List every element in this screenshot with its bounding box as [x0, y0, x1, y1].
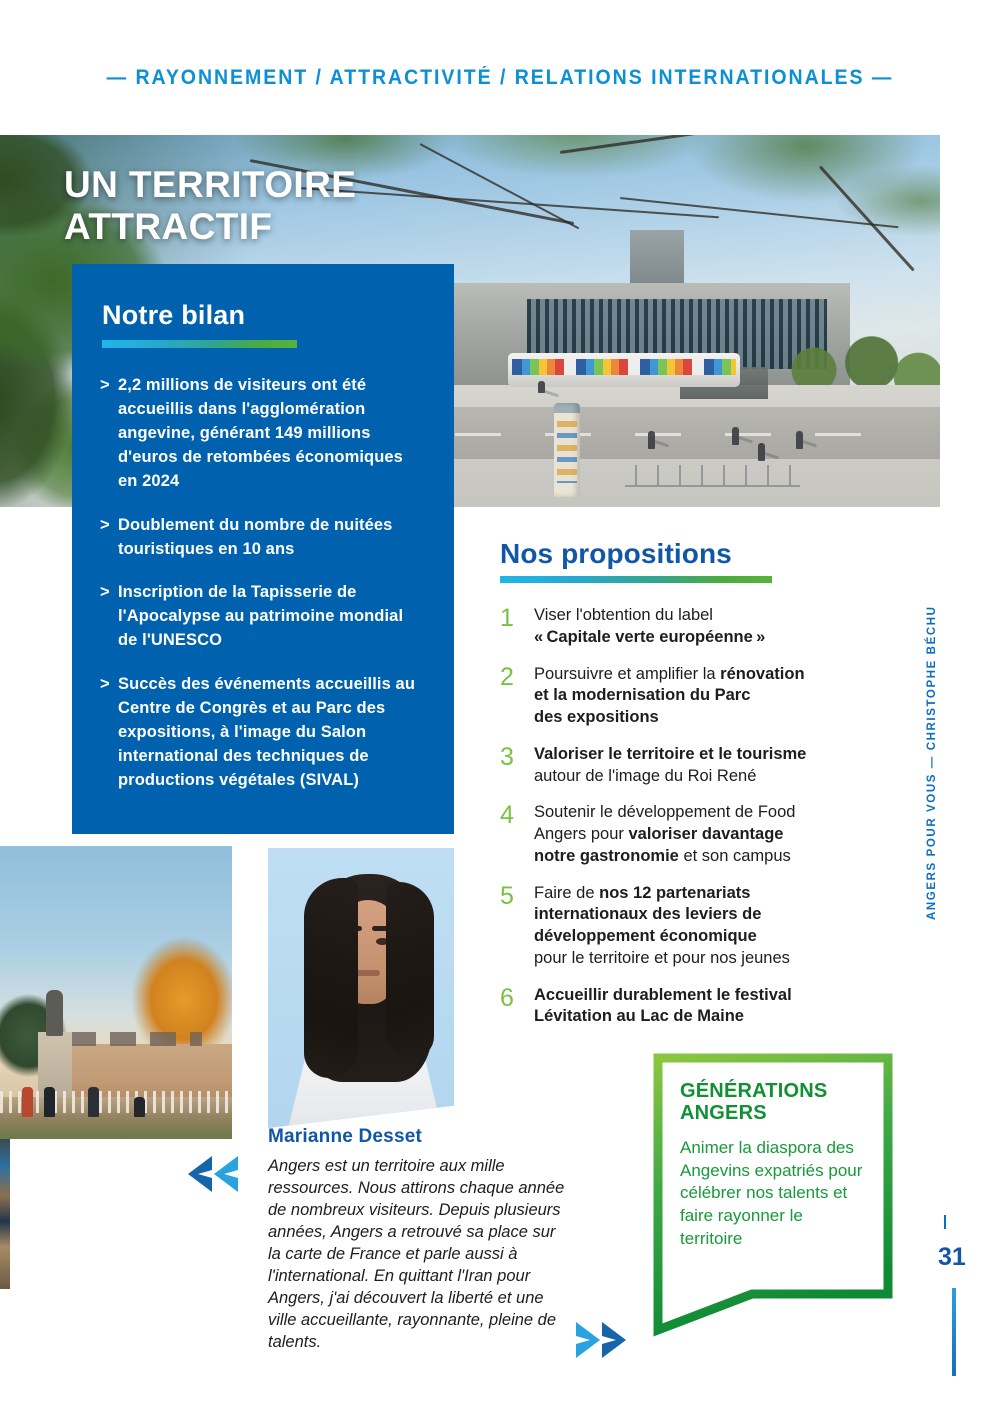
testimonial-quote: Angers est un territoire aux mille resso… — [268, 1156, 568, 1353]
bilan-item-text: Succès des événements accueillis au Cent… — [118, 675, 415, 789]
green-callout-title-line1: GÉNÉRATIONS — [680, 1080, 827, 1102]
proposition-number: 2 — [500, 664, 534, 729]
proposition-number: 6 — [500, 985, 534, 1029]
hero-pedestrian — [796, 431, 803, 449]
hero-bike-rack — [625, 465, 800, 487]
chevron-marker-icon: > — [100, 514, 110, 538]
chevron-marker-icon: > — [100, 673, 110, 697]
proposition-number: 5 — [500, 883, 534, 970]
hero-road — [415, 407, 940, 459]
bilan-list: > 2,2 millions de visiteurs ont été accu… — [100, 374, 424, 793]
proposition-text: Faire de nos 12 partenariatsinternationa… — [534, 883, 790, 970]
page-title-line2: ATTRACTIF — [64, 206, 356, 248]
hero-pedestrian — [732, 427, 739, 445]
bilan-item-text: 2,2 millions de visiteurs ont été accuei… — [118, 376, 403, 490]
bilan-item: > Doublement du nombre de nuitées touris… — [100, 514, 424, 562]
photo-visitor — [88, 1087, 99, 1117]
proposition-row: 5Faire de nos 12 partenariatsinternation… — [500, 883, 900, 970]
page-number: 31 — [938, 1243, 966, 1272]
margin-vertical-rule — [952, 1288, 956, 1376]
propositions-heading: Nos propositions — [500, 538, 900, 570]
green-callout-content: GÉNÉRATIONS ANGERS Animer la diaspora de… — [680, 1080, 868, 1251]
proposition-row: 1Viser l'obtention du label« Capitale ve… — [500, 605, 900, 649]
hero-pedestrian — [538, 381, 545, 393]
section-header: — RAYONNEMENT / ATTRACTIVITÉ / RELATIONS… — [35, 66, 965, 90]
page-root: — RAYONNEMENT / ATTRACTIVITÉ / RELATIONS… — [0, 0, 1000, 1419]
photo-fence — [0, 1091, 232, 1113]
hero-pedestrian — [758, 443, 765, 461]
photo-visitor — [134, 1097, 145, 1117]
proposition-text: Soutenir le développement de FoodAngers … — [534, 802, 795, 867]
photo-edge-sliver — [0, 1139, 10, 1289]
quote-close-chevrons-icon — [572, 1320, 628, 1360]
green-callout-body: Animer la diaspora des Angevins expatrié… — [680, 1137, 868, 1251]
green-callout-title-line2: ANGERS — [680, 1102, 767, 1124]
bilan-item: > 2,2 millions de visiteurs ont été accu… — [100, 374, 424, 494]
propositions-gradient-rule — [500, 576, 772, 583]
bilan-item-text: Doublement du nombre de nuitées touristi… — [118, 516, 392, 558]
proposition-text: Valoriser le territoire et le tourismeau… — [534, 744, 806, 788]
testimonial-name: Marianne Desset — [268, 1126, 422, 1148]
proposition-number: 4 — [500, 802, 534, 867]
photo-visitor — [22, 1087, 33, 1117]
photo-statue-figure — [46, 990, 63, 1036]
bilan-heading: Notre bilan — [102, 300, 424, 331]
proposition-row: 3Valoriser le territoire et le tourismea… — [500, 744, 900, 788]
bilan-item: > Succès des événements accueillis au Ce… — [100, 673, 424, 793]
green-callout-box: GÉNÉRATIONS ANGERS Animer la diaspora de… — [652, 1052, 894, 1354]
margin-dash — [944, 1215, 946, 1229]
proposition-number: 3 — [500, 744, 534, 788]
photo-place-statue — [0, 846, 232, 1139]
proposition-text: Poursuivre et amplifier la rénovationet … — [534, 664, 805, 729]
page-title: UN TERRITOIRE ATTRACTIF — [64, 164, 356, 248]
proposition-row: 2Poursuivre et amplifier la rénovationet… — [500, 664, 900, 729]
hero-advertising-column — [554, 403, 580, 497]
hero-pedestrian — [648, 431, 655, 449]
proposition-row: 6Accueillir durablement le festivalLévit… — [500, 985, 900, 1029]
bilan-panel: Notre bilan > 2,2 millions de visiteurs … — [72, 264, 454, 834]
quote-open-chevrons-icon — [186, 1154, 242, 1194]
bilan-gradient-rule — [102, 340, 297, 348]
portrait-hair-left — [304, 878, 358, 1078]
proposition-text: Accueillir durablement le festivalLévita… — [534, 985, 792, 1029]
running-header-text: ANGERS POUR VOUS — CHRISTOPHE BÉCHU — [926, 605, 938, 920]
proposition-row: 4Soutenir le développement de FoodAngers… — [500, 802, 900, 867]
photo-visitor — [44, 1087, 55, 1117]
bilan-item: > Inscription de la Tapisserie de l'Apoc… — [100, 581, 424, 653]
proposition-text: Viser l'obtention du label« Capitale ver… — [534, 605, 765, 649]
bilan-item-text: Inscription de la Tapisserie de l'Apocal… — [118, 583, 403, 649]
green-callout-title: GÉNÉRATIONS ANGERS — [680, 1080, 868, 1125]
portrait-hair-right — [386, 882, 434, 1058]
proposition-number: 1 — [500, 605, 534, 649]
propositions-list: 1Viser l'obtention du label« Capitale ve… — [500, 605, 900, 1028]
page-title-line1: UN TERRITOIRE — [64, 164, 356, 206]
propositions-section: Nos propositions 1Viser l'obtention du l… — [500, 538, 900, 1043]
portrait-photo — [268, 848, 454, 1128]
chevron-marker-icon: > — [100, 374, 110, 398]
chevron-marker-icon: > — [100, 581, 110, 605]
